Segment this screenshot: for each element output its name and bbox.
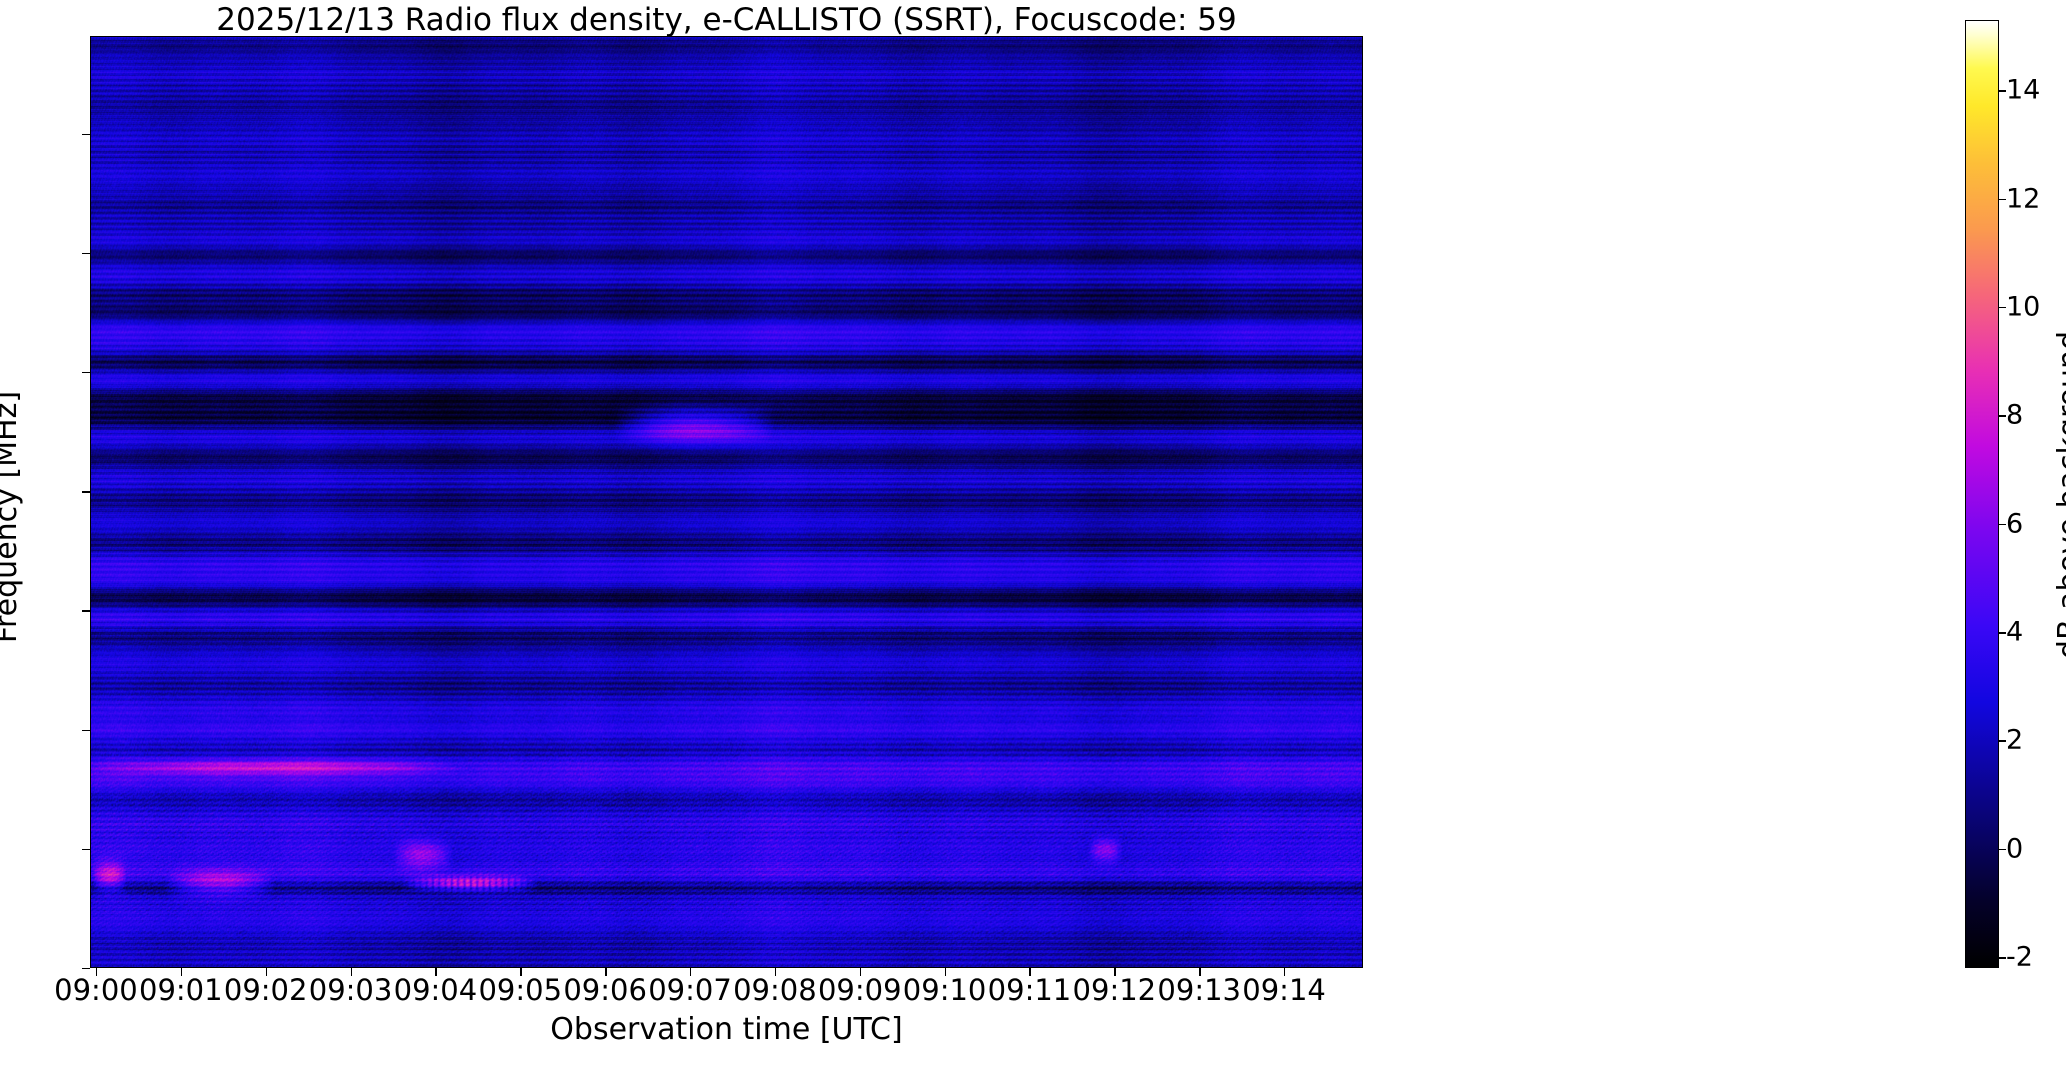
page-title: 2025/12/13 Radio flux density, e-CALLIST… <box>90 4 1363 36</box>
colorbar-tick-label: 6 <box>2006 510 2023 537</box>
y-axis-tick-mark <box>82 491 90 492</box>
colorbar[interactable] <box>1965 20 1999 968</box>
colorbar-tick-label: 12 <box>2006 185 2040 212</box>
y-axis-label: Frequency [MHz] <box>0 47 22 987</box>
colorbar-tick-label: 4 <box>2006 619 2023 646</box>
figure-canvas: 2025/12/13 Radio flux density, e-CALLIST… <box>0 0 2066 1067</box>
x-axis-tick-mark <box>351 968 352 976</box>
x-axis-tick-mark <box>605 968 606 976</box>
colorbar-tick-mark <box>1998 524 2006 525</box>
spectrogram-image <box>91 37 1362 967</box>
colorbar-tick-label: 2 <box>2006 727 2023 754</box>
x-axis-tick-label: 09:01 <box>139 976 223 1005</box>
y-axis-tick-mark <box>82 372 90 373</box>
colorbar-tick-mark <box>1998 307 2006 308</box>
colorbar-tick-mark <box>1998 849 2006 850</box>
x-axis-tick-label: 09:12 <box>1073 976 1157 1005</box>
colorbar-tick-mark <box>1998 957 2006 958</box>
colorbar-tick-label: 14 <box>2006 77 2040 104</box>
x-axis-tick-mark <box>1199 968 1200 976</box>
colorbar-label: dB above background <box>2055 25 2066 965</box>
y-axis-tick-mark <box>82 253 90 254</box>
x-axis-tick-mark <box>96 968 97 976</box>
x-axis-tick-mark <box>266 968 267 976</box>
x-axis-tick-mark <box>435 968 436 976</box>
x-axis-tick-label: 09:05 <box>478 976 562 1005</box>
y-axis-tick-mark <box>82 134 90 135</box>
x-axis-tick-mark <box>1114 968 1115 976</box>
x-axis-tick-label: 09:09 <box>818 976 902 1005</box>
y-axis-tick-mark <box>82 968 90 969</box>
colorbar-tick-mark <box>1998 740 2006 741</box>
x-axis-tick-mark <box>690 968 691 976</box>
y-axis-tick-mark <box>82 730 90 731</box>
x-axis-tick-mark <box>1029 968 1030 976</box>
colorbar-tick-label: 10 <box>2006 294 2040 321</box>
x-axis-tick-label: 09:04 <box>394 976 478 1005</box>
x-axis-tick-label: 09:06 <box>563 976 647 1005</box>
x-axis-tick-mark <box>945 968 946 976</box>
x-axis-tick-label: 09:11 <box>988 976 1072 1005</box>
x-axis-tick-mark <box>1284 968 1285 976</box>
x-axis-tick-label: 09:08 <box>733 976 817 1005</box>
x-axis-tick-mark <box>181 968 182 976</box>
colorbar-tick-mark <box>1998 415 2006 416</box>
colorbar-tick-label: 0 <box>2006 835 2023 862</box>
x-axis-tick-label: 09:10 <box>903 976 987 1005</box>
x-axis-tick-mark <box>775 968 776 976</box>
x-axis-label: Observation time [UTC] <box>90 1015 1363 1045</box>
x-axis-tick-label: 09:00 <box>54 976 138 1005</box>
x-axis-tick-label: 09:14 <box>1242 976 1326 1005</box>
x-axis-tick-label: 09:07 <box>648 976 732 1005</box>
colorbar-tick-label: -2 <box>2006 944 2033 971</box>
x-axis-tick-label: 09:02 <box>224 976 308 1005</box>
y-axis-tick-mark <box>82 849 90 850</box>
colorbar-tick-mark <box>1998 632 2006 633</box>
colorbar-tick-mark <box>1998 199 2006 200</box>
colorbar-tick-mark <box>1998 90 2006 91</box>
spectrogram-axes[interactable] <box>90 36 1363 968</box>
colorbar-tick-label: 8 <box>2006 402 2023 429</box>
x-axis-tick-mark <box>860 968 861 976</box>
x-axis-tick-label: 09:03 <box>309 976 393 1005</box>
x-axis-tick-label: 09:13 <box>1157 976 1241 1005</box>
x-axis-tick-mark <box>520 968 521 976</box>
y-axis-tick-mark <box>82 610 90 611</box>
